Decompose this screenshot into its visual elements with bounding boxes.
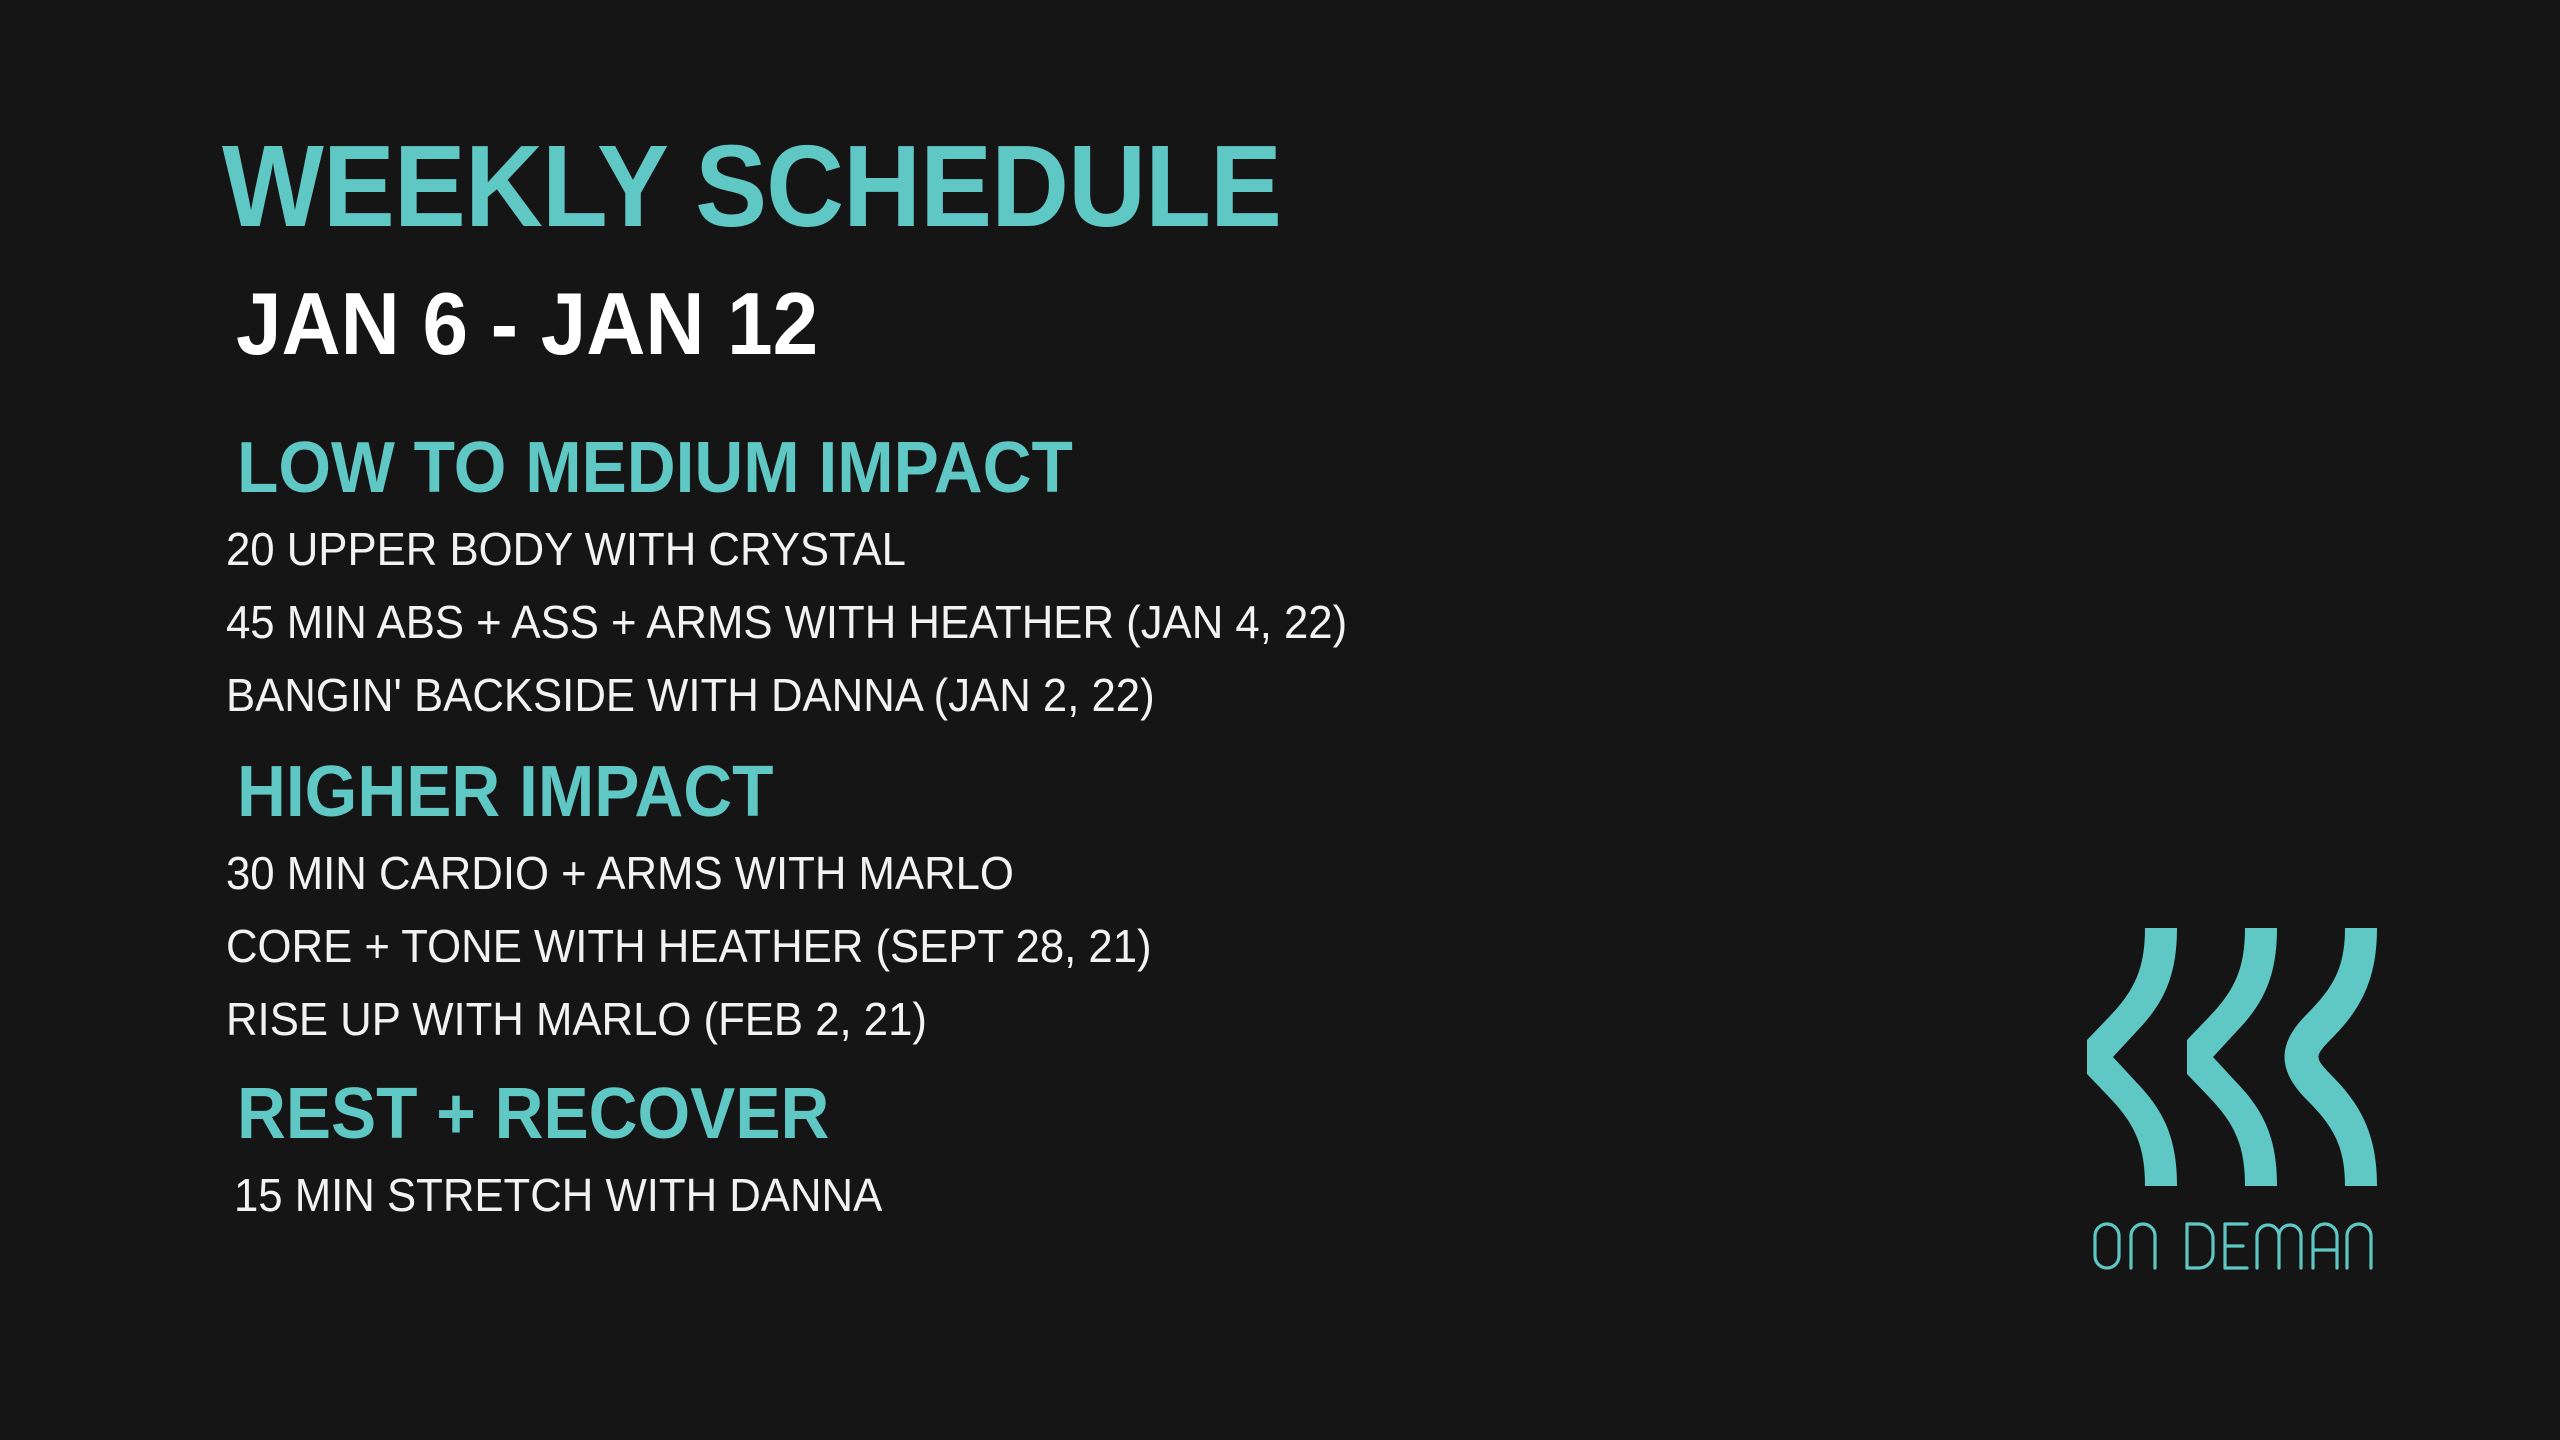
class-list: 30 MIN CARDIO + ARMS WITH MARLO CORE + T… [226, 850, 1826, 1042]
section-low-to-medium-impact: LOW TO MEDIUM IMPACT 20 UPPER BODY WITH … [226, 432, 1826, 718]
header: WEEKLY SCHEDULE JAN 6 - JAN 12 [222, 128, 1361, 368]
on-demand-wordmark [2087, 1216, 2377, 1274]
class-list-item: 30 MIN CARDIO + ARMS WITH MARLO [226, 850, 1746, 896]
section-rest-and-recover: REST + RECOVER 15 MIN STRETCH WITH DANNA [226, 1078, 1826, 1218]
class-list-item: BANGIN' BACKSIDE WITH DANNA (JAN 2, 22) [226, 672, 1746, 718]
class-list-item: CORE + TONE WITH HEATHER (SEPT 28, 21) [226, 923, 1746, 969]
section-heading: REST + RECOVER [237, 1078, 1731, 1150]
class-list-item: RISE UP WITH MARLO (FEB 2, 21) [226, 996, 1746, 1042]
class-list-item: 45 MIN ABS + ASS + ARMS WITH HEATHER (JA… [226, 599, 1746, 645]
class-list-item: 20 UPPER BODY WITH CRYSTAL [226, 526, 1746, 572]
section-heading: LOW TO MEDIUM IMPACT [237, 432, 1731, 504]
class-list: 20 UPPER BODY WITH CRYSTAL 45 MIN ABS + … [226, 526, 1826, 718]
class-list-item: 15 MIN STRETCH WITH DANNA [234, 1172, 1746, 1218]
three-waves-logo-icon [2087, 928, 2377, 1186]
section-heading: HIGHER IMPACT [237, 756, 1731, 828]
section-higher-impact: HIGHER IMPACT 30 MIN CARDIO + ARMS WITH … [226, 756, 1826, 1042]
page-title: WEEKLY SCHEDULE [222, 128, 1281, 244]
schedule-sections: LOW TO MEDIUM IMPACT 20 UPPER BODY WITH … [226, 432, 1826, 1218]
brand-logo [2087, 928, 2377, 1273]
date-range: JAN 6 - JAN 12 [236, 280, 1282, 368]
class-list: 15 MIN STRETCH WITH DANNA [226, 1172, 1826, 1218]
schedule-slide: WEEKLY SCHEDULE JAN 6 - JAN 12 LOW TO ME… [0, 0, 2560, 1440]
